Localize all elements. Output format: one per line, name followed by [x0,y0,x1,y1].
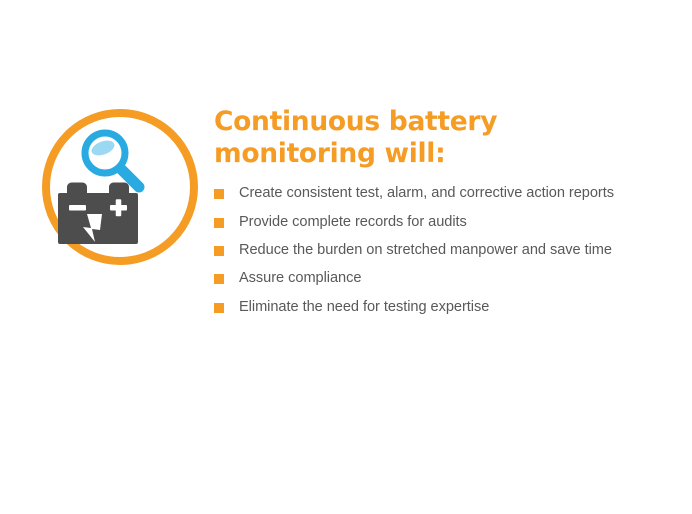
list-item: Eliminate the need for testing expertise [214,298,634,317]
battery-minus-symbol [69,205,86,211]
list-item: Assure compliance [214,269,634,288]
list-item-label: Eliminate the need for testing expertise [239,298,634,317]
list-item-label: Provide complete records for audits [239,213,634,232]
bullet-square-icon [214,303,224,313]
content-column: Continuous battery monitoring will: Crea… [214,106,634,317]
benefits-list: Create consistent test, alarm, and corre… [214,184,634,317]
battery-terminal-right [109,183,129,194]
battery-monitoring-icon [42,109,198,265]
magnifier-icon [85,133,139,187]
battery-terminal-left [67,183,87,194]
list-item-label: Create consistent test, alarm, and corre… [239,184,634,203]
page-title: Continuous battery monitoring will: [214,106,634,170]
bullet-square-icon [214,274,224,284]
list-item: Provide complete records for audits [214,213,634,232]
list-item-label: Reduce the burden on stretched manpower … [239,241,634,260]
bullet-square-icon [214,218,224,228]
list-item: Reduce the burden on stretched manpower … [214,241,634,260]
list-item: Create consistent test, alarm, and corre… [214,184,634,203]
bullet-square-icon [214,189,224,199]
list-item-label: Assure compliance [239,269,634,288]
infographic-slide: Continuous battery monitoring will: Crea… [0,0,692,514]
bullet-square-icon [214,246,224,256]
battery-icon [58,183,138,245]
